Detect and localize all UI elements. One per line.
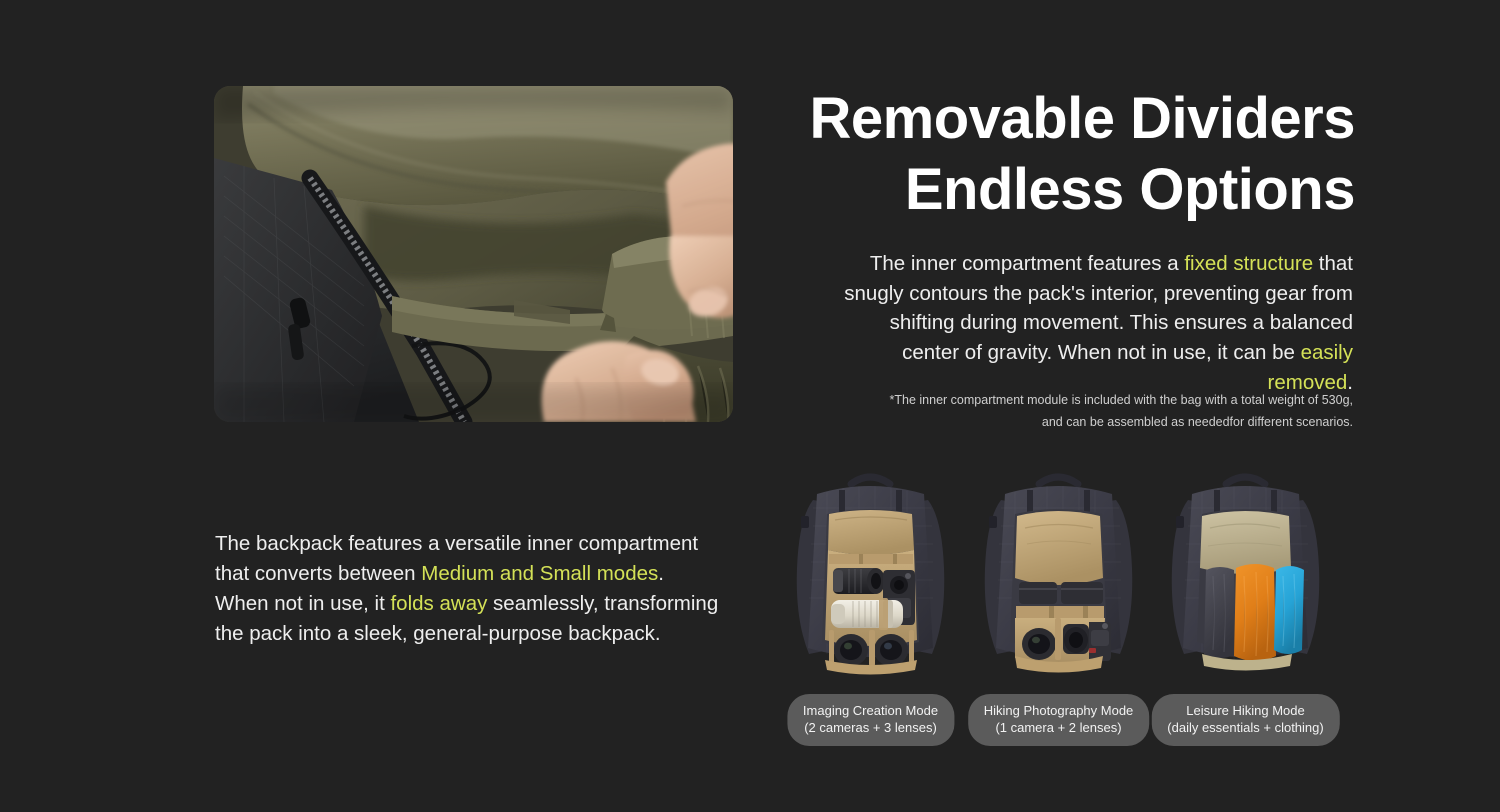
caption-line-2: (daily essentials + clothing) [1167,719,1323,736]
caption-line-1: Leisure Hiking Mode [1186,703,1305,718]
left-para-highlight-2: folds away [390,592,487,615]
hero-photo-illustration [214,86,733,422]
right-description-paragraph: The inner compartment features a fixed s… [838,249,1353,398]
backpack-photo-hiking-photography [971,458,1146,684]
caption-line-1: Hiking Photography Mode [984,703,1134,718]
backpack-illustration-hiking-photography [971,458,1146,684]
mode-caption-leisure-hiking: Leisure Hiking Mode (daily essentials + … [1151,694,1339,746]
mode-gallery: Imaging Creation Mode (2 cameras + 3 len… [775,458,1350,748]
product-feature-slide: Removable Dividers Endless Options The i… [0,0,1500,812]
backpack-photo-leisure-hiking [1158,458,1333,684]
mode-item-imaging-creation[interactable]: Imaging Creation Mode (2 cameras + 3 len… [783,458,958,748]
page-title: Removable Dividers Endless Options [755,84,1355,226]
mode-caption-hiking-photography: Hiking Photography Mode (1 camera + 2 le… [968,694,1150,746]
left-description-paragraph: The backpack features a versatile inner … [215,529,720,649]
caption-line-1: Imaging Creation Mode [803,703,938,718]
mode-item-leisure-hiking[interactable]: Leisure Hiking Mode (daily essentials + … [1158,458,1333,748]
title-line-1: Removable Dividers [755,84,1355,155]
mode-caption-imaging-creation: Imaging Creation Mode (2 cameras + 3 len… [787,694,954,746]
backpack-illustration-leisure-hiking [1158,458,1333,684]
title-line-2: Endless Options [755,155,1355,226]
footnote-text: *The inner compartment module is include… [883,390,1353,433]
hero-photo-dividers [214,86,733,422]
right-para-highlight-1: fixed structure [1184,252,1313,275]
mode-item-hiking-photography[interactable]: Hiking Photography Mode (1 camera + 2 le… [971,458,1146,748]
backpack-illustration-imaging-creation [783,458,958,684]
caption-line-2: (2 cameras + 3 lenses) [803,719,938,736]
left-para-highlight-1: Medium and Small modes [421,562,658,585]
backpack-photo-imaging-creation [783,458,958,684]
right-para-seg-1: The inner compartment features a [870,252,1185,275]
caption-line-2: (1 camera + 2 lenses) [984,719,1134,736]
